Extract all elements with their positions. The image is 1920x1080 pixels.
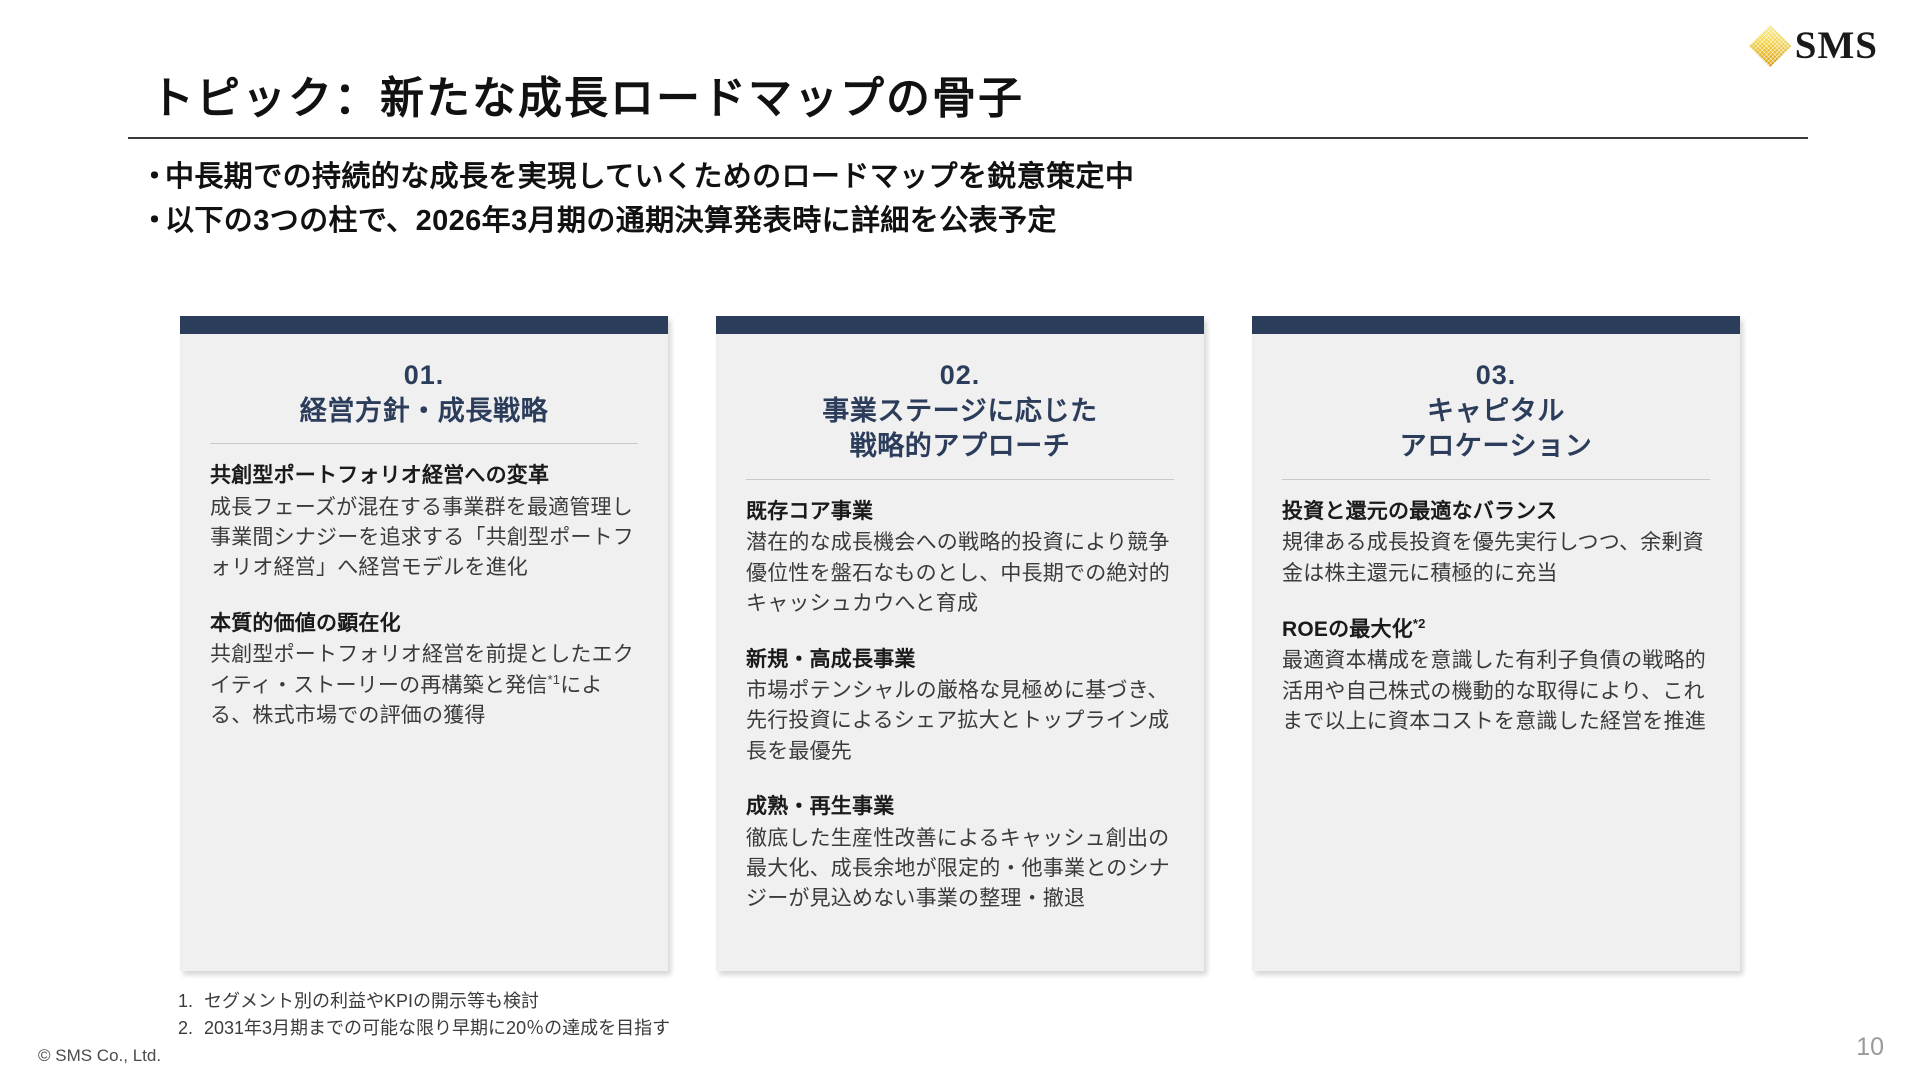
card-block-text-part: 市場ポテンシャルの厳格な見極めに基づき、先行投資によるシェア拡大とトップライン成… bbox=[746, 679, 1169, 763]
lead-bullet-text: 中長期での持続的な成長を実現していくためのロードマップを鋭意策定中 bbox=[165, 155, 1134, 199]
card-accent-bar bbox=[180, 316, 668, 334]
brand-logo: SMS bbox=[1755, 26, 1878, 65]
card-block-title-text: 新規・高成長事業 bbox=[746, 648, 916, 671]
pillar-card-row: 01.経営方針・成長戦略共創型ポートフォリオ経営への変革成長フェーズが混在する事… bbox=[180, 316, 1740, 971]
card-body: 投資と還元の最適なバランス規律ある成長投資を優先実行しつつ、余剰資金は株主還元に… bbox=[1252, 498, 1740, 764]
lead-bullet-2: ・以下の3つの柱で、2026年3月期の通期決算発表時に詳細を公表予定 bbox=[140, 199, 1840, 243]
card-block-title-text: 成熟・再生事業 bbox=[746, 795, 894, 818]
card-block-title: 既存コア事業 bbox=[746, 498, 1174, 526]
card-title-line: アロケーション bbox=[1262, 429, 1730, 465]
footnote-text: 2031年3月期までの可能な限り早期に20％の達成を目指す bbox=[204, 1015, 670, 1042]
card-block-text-part: 徹底した生産性改善によるキャッシュ創出の最大化、成長余地が限定的・他事業とのシナ… bbox=[746, 827, 1170, 911]
card-accent-bar bbox=[1252, 316, 1740, 334]
card-block-text: 最適資本構成を意識した有利子負債の戦略的活用や自己株式の機動的な取得により、これ… bbox=[1282, 646, 1710, 737]
card-block-text-part: 規律ある成長投資を優先実行しつつ、余剰資金は株主還元に積極的に充当 bbox=[1282, 531, 1704, 584]
card-number: 01. bbox=[190, 358, 658, 394]
card-title-line: キャピタル bbox=[1262, 394, 1730, 430]
card-block-text: 潜在的な成長機会への戦略的投資により競争優位性を盤石なものとし、中長期での絶対的… bbox=[746, 528, 1174, 619]
bullet-marker-icon: ・ bbox=[140, 199, 165, 243]
copyright-text: © SMS Co., Ltd. bbox=[38, 1046, 161, 1066]
lead-bullet-text: 以下の3つの柱で、2026年3月期の通期決算発表時に詳細を公表予定 bbox=[165, 199, 1057, 243]
page-number: 10 bbox=[1856, 1033, 1884, 1062]
card-body: 既存コア事業潜在的な成長機会への戦略的投資により競争優位性を盤石なものとし、中長… bbox=[716, 498, 1204, 941]
title-divider bbox=[128, 137, 1808, 139]
footnote-item: 1.セグメント別の利益やKPIの開示等も検討 bbox=[178, 988, 670, 1015]
card-heading: 03.キャピタルアロケーション bbox=[1252, 334, 1740, 479]
card-block-title: 共創型ポートフォリオ経営への変革 bbox=[210, 462, 638, 490]
card-divider bbox=[210, 443, 638, 444]
card-block-title-text: 共創型ポートフォリオ経営への変革 bbox=[210, 464, 549, 487]
card-block-text-part: 潜在的な成長機会への戦略的投資により競争優位性を盤石なものとし、中長期での絶対的… bbox=[746, 531, 1170, 615]
diamond-logo-icon bbox=[1749, 24, 1791, 66]
card-heading: 02.事業ステージに応じた戦略的アプローチ bbox=[716, 334, 1204, 479]
footnote-list: 1.セグメント別の利益やKPIの開示等も検討2.2031年3月期までの可能な限り… bbox=[178, 988, 670, 1041]
card-body: 共創型ポートフォリオ経営への変革成長フェーズが混在する事業群を最適管理し事業間シ… bbox=[180, 462, 668, 757]
card-block-text: 規律ある成長投資を優先実行しつつ、余剰資金は株主還元に積極的に充当 bbox=[1282, 528, 1710, 589]
card-block: 共創型ポートフォリオ経営への変革成長フェーズが混在する事業群を最適管理し事業間シ… bbox=[210, 462, 638, 584]
card-block: 投資と還元の最適なバランス規律ある成長投資を優先実行しつつ、余剰資金は株主還元に… bbox=[1282, 498, 1710, 589]
bullet-marker-icon: ・ bbox=[140, 155, 165, 199]
card-block: 成熟・再生事業徹底した生産性改善によるキャッシュ創出の最大化、成長余地が限定的・… bbox=[746, 793, 1174, 915]
footnote-reference: *2 bbox=[1413, 616, 1426, 631]
lead-bullet-list: ・中長期での持続的な成長を実現していくためのロードマップを鋭意策定中・以下の3つ… bbox=[140, 155, 1840, 243]
card-block-title-text: 本質的価値の顕在化 bbox=[210, 612, 401, 635]
card-block-title: 新規・高成長事業 bbox=[746, 646, 1174, 674]
footnote-reference: *1 bbox=[548, 672, 561, 687]
footnote-marker: 2. bbox=[178, 1015, 204, 1042]
card-block-text: 市場ポテンシャルの厳格な見極めに基づき、先行投資によるシェア拡大とトップライン成… bbox=[746, 676, 1174, 767]
card-block: ROEの最大化*2最適資本構成を意識した有利子負債の戦略的活用や自己株式の機動的… bbox=[1282, 615, 1710, 738]
card-number: 03. bbox=[1262, 358, 1730, 394]
footnote-marker: 1. bbox=[178, 988, 204, 1015]
card-block-text: 徹底した生産性改善によるキャッシュ創出の最大化、成長余地が限定的・他事業とのシナ… bbox=[746, 824, 1174, 915]
card-block-title: 成熟・再生事業 bbox=[746, 793, 1174, 821]
card-heading: 01.経営方針・成長戦略 bbox=[180, 334, 668, 443]
footnote-text: セグメント別の利益やKPIの開示等も検討 bbox=[204, 988, 539, 1015]
card-number: 02. bbox=[726, 358, 1194, 394]
pillar-card-03: 03.キャピタルアロケーション投資と還元の最適なバランス規律ある成長投資を優先実… bbox=[1252, 316, 1740, 971]
brand-wordmark: SMS bbox=[1795, 26, 1878, 65]
card-block-text-part: 成長フェーズが混在する事業群を最適管理し事業間シナジーを追求する「共創型ポートフ… bbox=[210, 496, 634, 580]
card-block-text: 成長フェーズが混在する事業群を最適管理し事業間シナジーを追求する「共創型ポートフ… bbox=[210, 493, 638, 584]
card-accent-bar bbox=[716, 316, 1204, 334]
card-title-line: 事業ステージに応じた bbox=[726, 394, 1194, 430]
card-divider bbox=[746, 479, 1174, 480]
lead-bullet-1: ・中長期での持続的な成長を実現していくためのロードマップを鋭意策定中 bbox=[140, 155, 1840, 199]
pillar-card-01: 01.経営方針・成長戦略共創型ポートフォリオ経営への変革成長フェーズが混在する事… bbox=[180, 316, 668, 971]
card-block-title-text: 既存コア事業 bbox=[746, 500, 873, 523]
page-title: トピック：新たな成長ロードマップの骨子 bbox=[150, 62, 1024, 126]
card-block: 本質的価値の顕在化共創型ポートフォリオ経営を前提としたエクイティ・ストーリーの再… bbox=[210, 610, 638, 732]
card-block: 新規・高成長事業市場ポテンシャルの厳格な見極めに基づき、先行投資によるシェア拡大… bbox=[746, 646, 1174, 768]
card-divider bbox=[1282, 479, 1710, 480]
card-block-title: 本質的価値の顕在化 bbox=[210, 610, 638, 638]
card-block-title: ROEの最大化*2 bbox=[1282, 615, 1710, 644]
card-block-text: 共創型ポートフォリオ経営を前提としたエクイティ・ストーリーの再構築と発信*1によ… bbox=[210, 640, 638, 731]
card-title-line: 戦略的アプローチ bbox=[726, 429, 1194, 465]
card-block: 既存コア事業潜在的な成長機会への戦略的投資により競争優位性を盤石なものとし、中長… bbox=[746, 498, 1174, 620]
pillar-card-02: 02.事業ステージに応じた戦略的アプローチ既存コア事業潜在的な成長機会への戦略的… bbox=[716, 316, 1204, 971]
card-block-title: 投資と還元の最適なバランス bbox=[1282, 498, 1710, 526]
card-block-text-part: 最適資本構成を意識した有利子負債の戦略的活用や自己株式の機動的な取得により、これ… bbox=[1282, 649, 1706, 733]
card-title-line: 経営方針・成長戦略 bbox=[190, 394, 658, 430]
footnote-item: 2.2031年3月期までの可能な限り早期に20％の達成を目指す bbox=[178, 1015, 670, 1042]
card-block-title-text: 投資と還元の最適なバランス bbox=[1282, 500, 1557, 523]
card-block-title-text: ROEの最大化 bbox=[1282, 618, 1413, 641]
